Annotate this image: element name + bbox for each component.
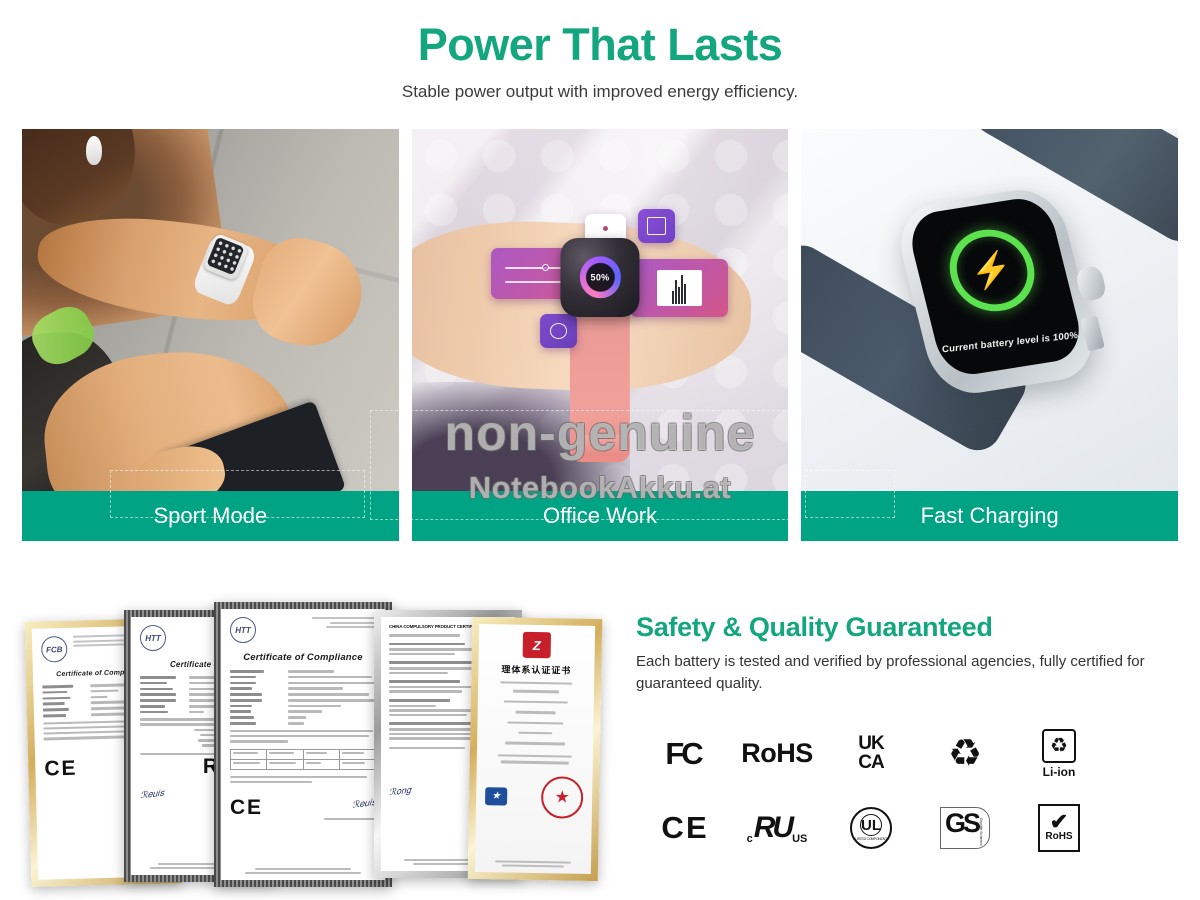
- rohs-label: RoHS: [1045, 831, 1072, 842]
- card-caption-fast-charging: Fast Charging: [801, 491, 1178, 541]
- card-caption-sport-mode: Sport Mode: [22, 491, 399, 541]
- gs-caption: Geprüfte Sicherheit: [979, 818, 983, 845]
- recycle-badge: ♻: [918, 735, 1012, 773]
- checkbox-icon: [638, 209, 676, 243]
- badge-row-2: C E c RU US UL LISTED COMPONENT: [636, 791, 1176, 865]
- ce-mark: C E: [44, 756, 74, 781]
- badge-row-1: FC RoHS UK CA ♻ ♻ Li-ion: [636, 717, 1176, 791]
- watch-screen-text: Current battery level is 100%: [940, 330, 1078, 355]
- certificate-table: [230, 749, 376, 770]
- page-subtitle: Stable power output with improved energy…: [0, 82, 1200, 102]
- c-prefix: c: [747, 833, 753, 845]
- feature-card-sport-mode[interactable]: Sport Mode: [22, 129, 399, 541]
- safety-description: Each battery is tested and verified by p…: [636, 651, 1176, 695]
- earbud-icon: [86, 136, 102, 165]
- feature-card-fast-charging[interactable]: ⚡ Current battery level is 100% Fast Cha…: [801, 129, 1178, 541]
- fast-charging-photo: ⚡ Current battery level is 100%: [801, 129, 1178, 491]
- ul-listed-badge: UL LISTED COMPONENT: [824, 807, 918, 849]
- sport-mode-photo: [22, 129, 399, 491]
- rohs-badge: RoHS: [730, 738, 824, 769]
- us-suffix: US: [792, 833, 807, 845]
- feature-cards: Sport Mode: [22, 129, 1178, 541]
- gear-icon: [540, 314, 578, 348]
- red-star-seal: ★: [541, 776, 584, 819]
- ce-badge: C E: [636, 810, 730, 846]
- lightning-bolt-icon: ⚡: [966, 250, 1016, 290]
- htt-logo: HTT: [140, 625, 166, 651]
- htt-logo: HTT: [230, 617, 256, 643]
- bar-chart-icon: [630, 259, 728, 317]
- page-title: Power That Lasts: [0, 20, 1200, 70]
- safety-quality-section: Safety & Quality Guaranteed Each battery…: [636, 612, 1176, 865]
- check-icon: ✔: [1050, 813, 1068, 831]
- ul-caption: LISTED COMPONENT: [855, 837, 887, 841]
- badge-icon: ★: [485, 787, 507, 805]
- recycle-icon: ♻: [1042, 729, 1076, 763]
- ul-mark: RU: [754, 811, 791, 845]
- hero-section: Power That Lasts Stable power output wit…: [0, 0, 1200, 102]
- office-work-photo: 50%: [412, 129, 789, 491]
- cqc-logo: Z: [523, 632, 551, 658]
- gs-label: GS: [945, 810, 978, 837]
- watch-dial-value: 50%: [591, 272, 610, 282]
- ce-mark: C E: [230, 796, 259, 820]
- recycle-icon: ♻: [948, 735, 982, 773]
- certificate-title: Certificate of Compliance: [230, 652, 376, 663]
- certificate-of-compliance-main[interactable]: HTT Certificate of Compliance: [214, 602, 392, 887]
- feature-card-office-work[interactable]: 50% Office Work: [412, 129, 789, 541]
- certificates-collage: FCB Certificate of Compliance: [18, 600, 598, 900]
- card-caption-office-work: Office Work: [412, 491, 789, 541]
- ul-label: UL: [860, 814, 882, 836]
- c-ul-us-badge: c RU US: [730, 811, 824, 845]
- certificate-title: 理体系认证证书: [485, 662, 587, 677]
- rohs-check-badge: ✔ RoHS: [1012, 804, 1106, 852]
- fcb-logo: FCB: [41, 636, 68, 663]
- signature: ℛ𝑜𝑛𝑔: [388, 785, 411, 799]
- signature: ℛ𝑒𝑢𝑖𝑠: [324, 797, 377, 814]
- li-ion-label: Li-ion: [1042, 765, 1076, 779]
- certification-badges: FC RoHS UK CA ♻ ♻ Li-ion: [636, 717, 1176, 865]
- li-ion-recycle-badge: ♻ Li-ion: [1012, 729, 1106, 779]
- ukca-badge: UK CA: [824, 735, 918, 771]
- safety-title: Safety & Quality Guaranteed: [636, 612, 1176, 643]
- lower-section: FCB Certificate of Compliance: [0, 560, 1200, 900]
- certificate-chinese-system[interactable]: Z 理体系认证证书 ★ ★: [468, 617, 603, 881]
- fcc-badge: FC: [636, 736, 730, 772]
- gs-badge: GS Geprüfte Sicherheit: [918, 807, 1012, 849]
- ukca-bottom: CA: [858, 752, 883, 773]
